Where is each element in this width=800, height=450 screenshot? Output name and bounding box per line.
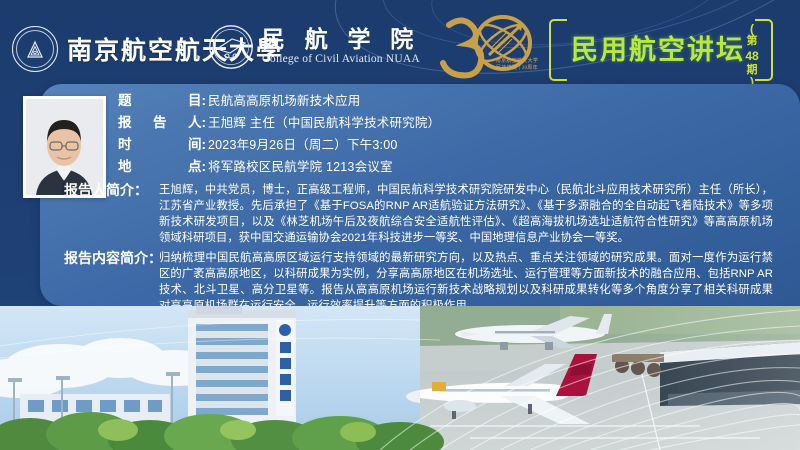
university-seal-icon bbox=[12, 26, 58, 72]
info-panel: 题目: 民航高高原机场新技术应用 报告人: 王旭辉 主任（中国民航科学技术研究院… bbox=[40, 84, 800, 306]
label-speaker: 报告人: bbox=[118, 112, 208, 134]
info-row-location: 地点: 将军路校区民航学院 1213会议室 bbox=[118, 156, 778, 178]
label-time: 时间: bbox=[118, 134, 208, 156]
value-speaker: 王旭辉 主任（中国民航科学技术研究院） bbox=[208, 112, 440, 134]
college-seal-icon bbox=[208, 24, 254, 70]
value-location: 将军路校区民航学院 1213会议室 bbox=[208, 156, 393, 178]
issue-paren-open: ( bbox=[741, 24, 763, 35]
report-summary-block: 报告内容简介： 归纳梳理中国民航高高原区域运行支持领域的最新研究方向，以及热点、… bbox=[64, 250, 780, 314]
label-location: 地点: bbox=[118, 156, 208, 178]
issue-badge: ( 第 48 期 ) bbox=[741, 24, 763, 88]
label-report-summary: 报告内容简介： bbox=[64, 250, 159, 266]
info-row-speaker: 报告人: 王旭辉 主任（中国民航科学技术研究院） bbox=[118, 112, 778, 134]
anniversary-30-logo: 南京航空航天大学 民航学院 | 30周年 bbox=[437, 9, 541, 85]
issue-suffix: 期 bbox=[747, 64, 758, 76]
college-name-en: College of Civil Aviation NUAA bbox=[262, 53, 420, 67]
header: 南京航空航天大學 民 航 学 院 College of Civil Aviati… bbox=[0, 0, 800, 86]
value-time: 2023年9月26日（周二）下午3:00 bbox=[208, 134, 398, 156]
forum-title: 民用航空讲坛 bbox=[571, 28, 745, 67]
info-row-title: 题目: 民航高高原机场新技术应用 bbox=[118, 90, 778, 112]
text-speaker-bio: 王旭辉，中共党员，博士，正高级工程师，中国民航科学技术研究院研发中心（民航北斗应… bbox=[159, 182, 773, 246]
info-row-time: 时间: 2023年9月26日（周二）下午3:00 bbox=[118, 134, 778, 156]
college-name-cn: 民 航 学 院 bbox=[262, 28, 420, 52]
issue-number: 48 bbox=[741, 49, 763, 64]
college-name-block: 民 航 学 院 College of Civil Aviation NUAA bbox=[262, 28, 420, 67]
info-rows: 题目: 民航高高原机场新技术应用 报告人: 王旭辉 主任（中国民航科学技术研究院… bbox=[118, 90, 778, 178]
forum-title-block: 民用航空讲坛 ( 第 48 期 ) bbox=[549, 18, 785, 78]
label-speaker-bio: 报告人简介： bbox=[64, 182, 159, 198]
portrait-photo bbox=[26, 99, 103, 195]
anniversary-caption: 南京航空航天大学 民航学院 | 30周年 bbox=[493, 59, 541, 73]
footer-photo bbox=[0, 306, 800, 450]
bracket-left-decor bbox=[549, 19, 567, 81]
label-title: 题目: bbox=[118, 90, 208, 112]
speaker-bio-block: 报告人简介： 王旭辉，中共党员，博士，正高级工程师，中国民航科学技术研究院研发中… bbox=[64, 182, 780, 246]
nuaa-emblem-icon bbox=[25, 40, 45, 60]
issue-prefix: 第 bbox=[747, 35, 758, 47]
poster-root: 南京航空航天大學 民 航 学 院 College of Civil Aviati… bbox=[0, 0, 800, 450]
text-report-summary: 归纳梳理中国民航高高原区域运行支持领域的最新研究方向，以及热点、重点关注领域的研… bbox=[159, 250, 773, 314]
value-title: 民航高高原机场新技术应用 bbox=[208, 90, 360, 112]
college-logo: 民 航 学 院 College of Civil Aviation NUAA bbox=[208, 24, 420, 70]
